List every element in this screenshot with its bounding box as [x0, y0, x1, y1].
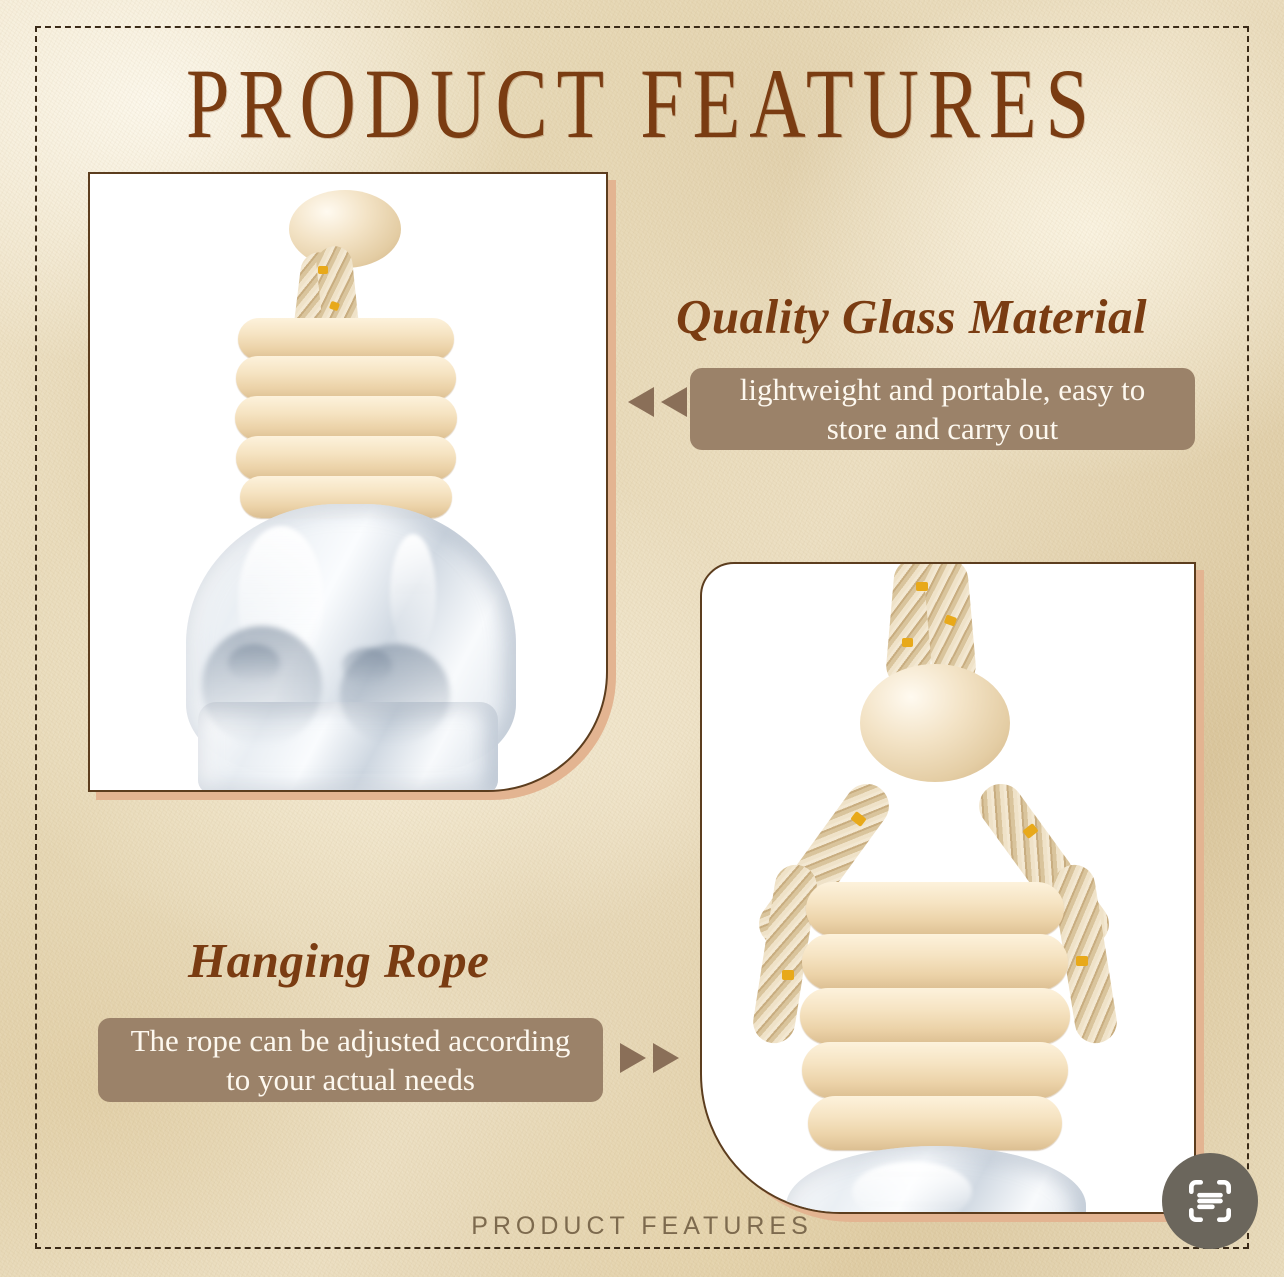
- product-photo-hanging-rope: [702, 564, 1194, 1212]
- glass-highlight: [852, 1162, 972, 1214]
- scan-text-icon: [1182, 1173, 1238, 1229]
- wooden-cap-ring: [802, 934, 1068, 990]
- footer-label: PRODUCT FEATURES: [0, 1212, 1284, 1241]
- arrows-pointing-left: [628, 387, 687, 417]
- scan-text-button[interactable]: [1162, 1153, 1258, 1249]
- chevron-left-icon: [661, 387, 687, 417]
- wooden-cap-ring: [800, 988, 1070, 1044]
- product-image-card-2: [700, 562, 1196, 1214]
- rope-gold-fleck: [1076, 956, 1088, 966]
- wooden-cap-ring: [236, 436, 456, 480]
- product-image-card-1: [88, 172, 608, 792]
- chevron-left-icon: [628, 387, 654, 417]
- feature-description-quality-glass-material: lightweight and portable, easy to store …: [690, 368, 1195, 450]
- wooden-cap-ring: [235, 396, 457, 440]
- arrows-pointing-right: [620, 1043, 679, 1073]
- glass-highlight: [390, 534, 436, 654]
- chevron-right-icon: [620, 1043, 646, 1073]
- product-features-infographic: PRODUCT FEATURES: [0, 0, 1284, 1277]
- wooden-cap-ring: [238, 318, 454, 360]
- wooden-cap-ring: [808, 1096, 1062, 1150]
- wooden-cap-ring: [802, 1042, 1068, 1098]
- rope-gold-fleck: [318, 266, 328, 274]
- rope-gold-fleck: [782, 970, 794, 980]
- rope-gold-fleck: [916, 582, 928, 591]
- feature-heading-hanging-rope: Hanging Rope: [188, 932, 489, 989]
- wooden-bead-icon: [860, 664, 1010, 782]
- page-title: PRODUCT FEATURES: [0, 46, 1284, 161]
- chevron-right-icon: [653, 1043, 679, 1073]
- feature-description-hanging-rope: The rope can be adjusted according to yo…: [98, 1018, 603, 1102]
- wooden-cap-ring: [806, 882, 1064, 936]
- wooden-cap-ring: [236, 356, 456, 400]
- feature-heading-quality-glass-material: Quality Glass Material: [676, 288, 1147, 345]
- glass-skull-eye-socket: [342, 648, 392, 684]
- product-photo-skull-bottle: [90, 174, 606, 790]
- glass-skull-eye-socket: [228, 644, 280, 682]
- rope-gold-fleck: [902, 638, 913, 647]
